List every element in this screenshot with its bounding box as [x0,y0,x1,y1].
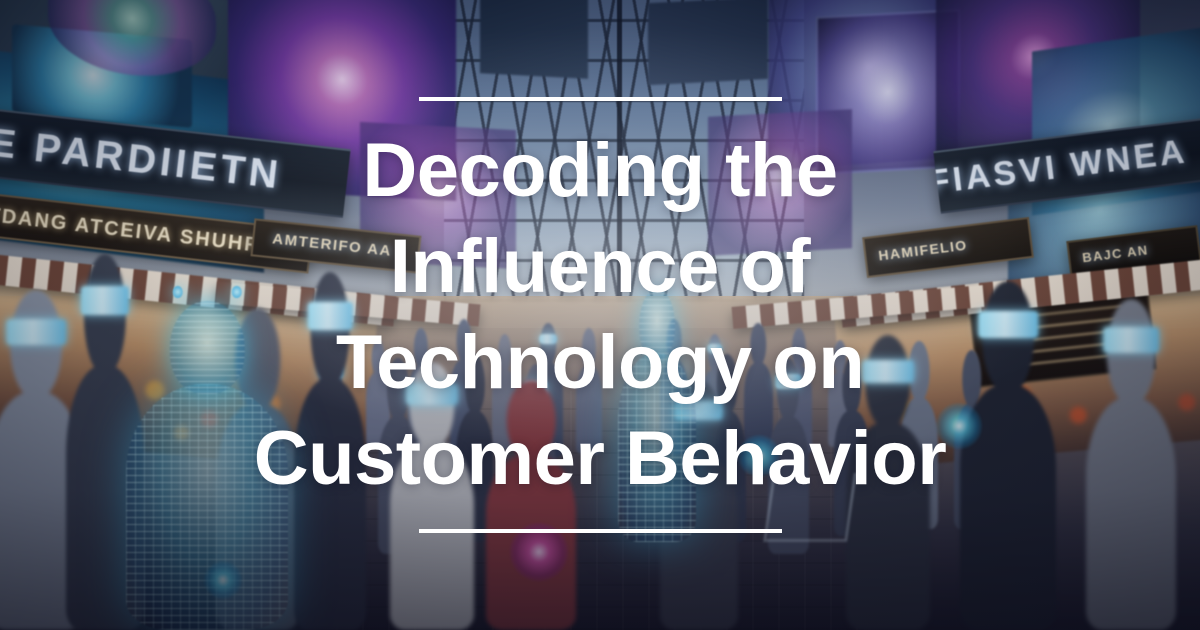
title-line: Decoding the [362,128,837,213]
title-line: Technology on [336,320,864,405]
divider-bottom [419,529,782,533]
divider-top [419,97,782,101]
page-title: Decoding the Influence of Technology on … [254,123,947,507]
title-line: Customer Behavior [254,416,947,501]
title-overlay: Decoding the Influence of Technology on … [0,0,1200,630]
blog-hero-banner: E PARDIIETN ACTDANG ATCEIVA SHUHRS AMTER… [0,0,1200,630]
title-line: Influence of [390,224,810,309]
